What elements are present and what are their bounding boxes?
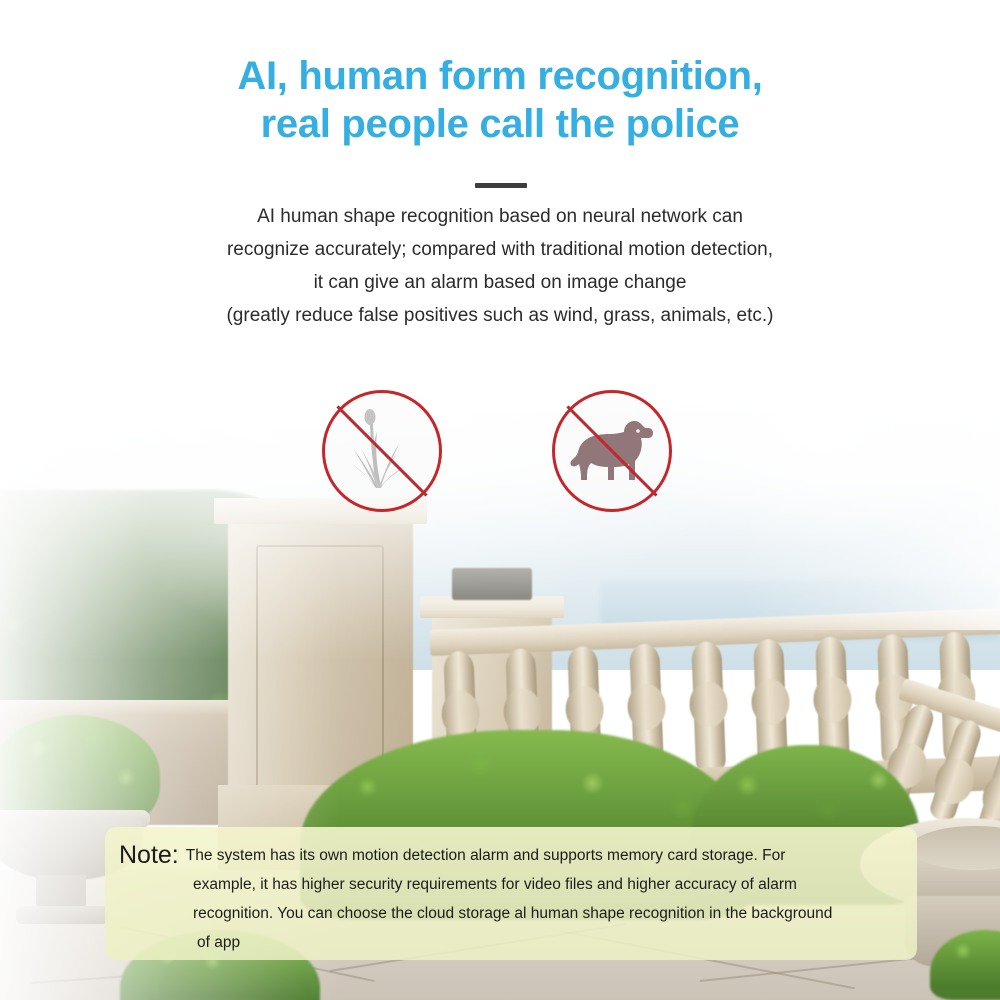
description-line-4: (greatly reduce false positives such as … [0, 299, 1000, 332]
page-title: AI, human form recognition, real people … [0, 52, 1000, 148]
description-line-1: AI human shape recognition based on neur… [0, 200, 1000, 233]
note-body: The system has its own motion detection … [119, 841, 899, 957]
note-box: Note: The system has its own motion dete… [105, 827, 917, 960]
baluster [928, 717, 985, 824]
prohibition-icon-row [0, 390, 1000, 520]
page-title-line-2: real people call the police [0, 100, 1000, 148]
note-line-4: of app [119, 928, 899, 957]
note-label: Note: [119, 841, 179, 870]
note-line-1: The system has its own motion detection … [119, 841, 899, 870]
baluster [691, 641, 726, 774]
page-title-line-1: AI, human form recognition, [237, 54, 762, 98]
no-dog-icon [552, 390, 672, 512]
note-line-3: recognition. You can choose the cloud st… [119, 899, 899, 928]
no-grass-icon [322, 390, 442, 512]
description-line-3: it can give an alarm based on image chan… [0, 266, 1000, 299]
description-text: AI human shape recognition based on neur… [0, 200, 1000, 332]
title-divider [475, 183, 527, 188]
note-line-2: example, it has higher security requirem… [119, 870, 899, 899]
promo-page: AI, human form recognition, real people … [0, 0, 1000, 1000]
description-line-2: recognize accurately; compared with trad… [0, 233, 1000, 266]
